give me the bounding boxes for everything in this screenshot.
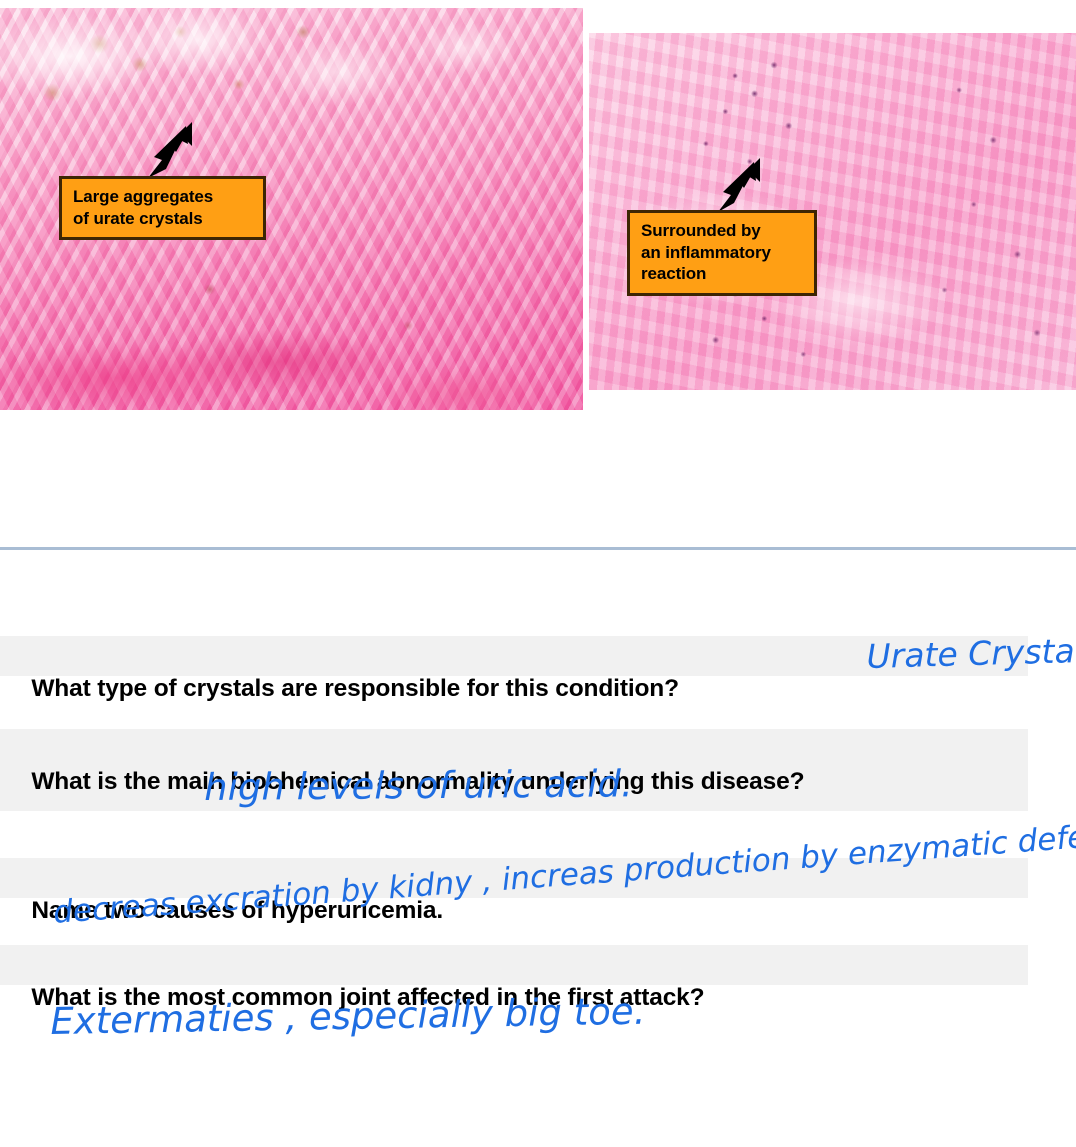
callout-2-line-3: reaction: [641, 263, 805, 285]
callout-2-line-1: Surrounded by: [641, 220, 805, 242]
callout-large-aggregates-of-urate-crystals: Large aggregates of urate crystals: [59, 176, 266, 240]
question-4-band: What is the most common joint affected i…: [0, 945, 1028, 985]
up-right-arrow-icon-right: [712, 158, 772, 214]
section-divider: [0, 547, 1076, 550]
question-1-text: What type of crystals are responsible fo…: [31, 673, 679, 706]
question-2-text: What is the main biochemical abnormality…: [31, 768, 804, 795]
callout-1-line-2: of urate crystals: [73, 208, 254, 230]
question-2-band: What is the main biochemical abnormality…: [0, 729, 1028, 811]
question-4-text: What is the most common joint affected i…: [31, 984, 704, 1011]
callout-surrounded-by-inflammatory-reaction: Surrounded by an inflammatory reaction: [627, 210, 817, 296]
question-1-band: What type of crystals are responsible fo…: [0, 636, 1028, 676]
up-right-arrow-icon-left: [140, 120, 210, 180]
callout-1-line-1: Large aggregates: [73, 186, 254, 208]
callout-2-line-2: an inflammatory: [641, 242, 805, 264]
question-3-text: Name two causes of hyperuricemia.: [31, 897, 443, 924]
question-3-band: Name two causes of hyperuricemia.: [0, 858, 1028, 898]
